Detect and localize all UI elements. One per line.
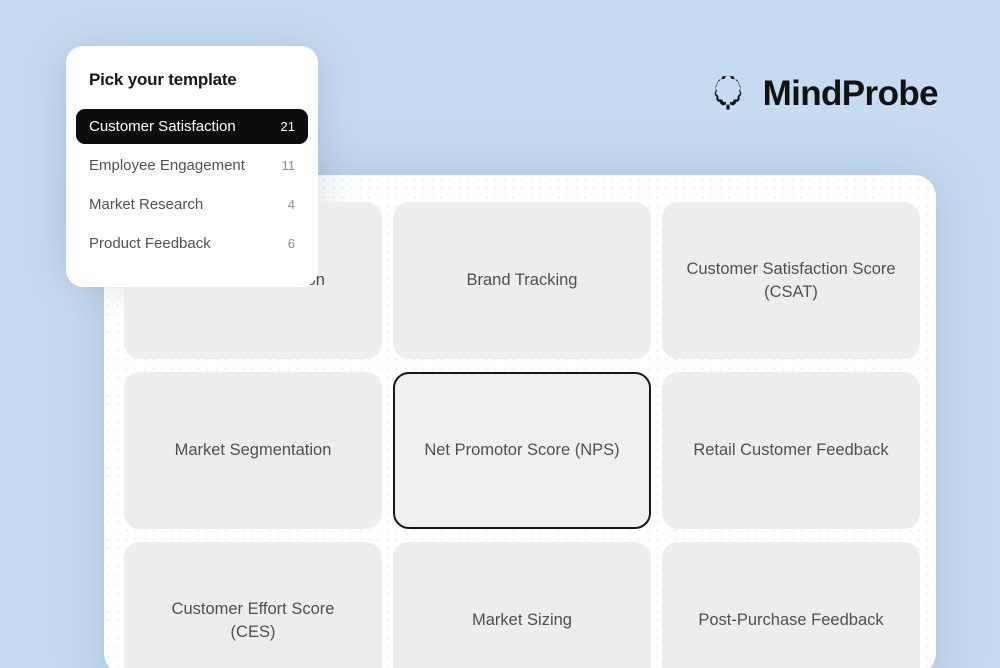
- dropdown-menu: Customer Satisfaction 21 Employee Engage…: [66, 109, 318, 261]
- dropdown-item-label: Employee Engagement: [89, 157, 245, 174]
- dropdown-item-product-feedback[interactable]: Product Feedback 6: [76, 226, 308, 261]
- dropdown-item-count: 11: [282, 158, 296, 173]
- template-picker-dropdown: Pick your template Customer Satisfaction…: [66, 46, 318, 287]
- brain-icon: [707, 72, 749, 114]
- dropdown-item-label: Market Research: [89, 196, 203, 213]
- dropdown-item-label: Product Feedback: [89, 235, 211, 252]
- app-canvas: MindProbe Contact Information Brand Trac…: [0, 0, 1000, 668]
- template-card[interactable]: Retail Customer Feedback: [662, 372, 920, 529]
- dropdown-item-label: Customer Satisfaction: [89, 118, 236, 135]
- template-card[interactable]: Customer Effort Score (CES): [124, 542, 382, 668]
- dropdown-item-count: 4: [288, 197, 295, 212]
- dropdown-item-count: 6: [288, 236, 295, 251]
- template-card[interactable]: Market Sizing: [393, 542, 651, 668]
- template-card[interactable]: Brand Tracking: [393, 202, 651, 359]
- brand-name: MindProbe: [763, 76, 938, 111]
- dropdown-item-market-research[interactable]: Market Research 4: [76, 187, 308, 222]
- dropdown-item-customer-satisfaction[interactable]: Customer Satisfaction 21: [76, 109, 308, 144]
- brand-logo: MindProbe: [707, 72, 938, 114]
- template-card[interactable]: Customer Satisfaction Score (CSAT): [662, 202, 920, 359]
- template-card[interactable]: Post-Purchase Feedback: [662, 542, 920, 668]
- dropdown-item-count: 21: [281, 119, 295, 134]
- template-card[interactable]: Market Segmentation: [124, 372, 382, 529]
- dropdown-item-employee-engagement[interactable]: Employee Engagement 11: [76, 148, 308, 183]
- template-card-selected[interactable]: Net Promotor Score (NPS): [393, 372, 651, 529]
- dropdown-title: Pick your template: [66, 70, 318, 90]
